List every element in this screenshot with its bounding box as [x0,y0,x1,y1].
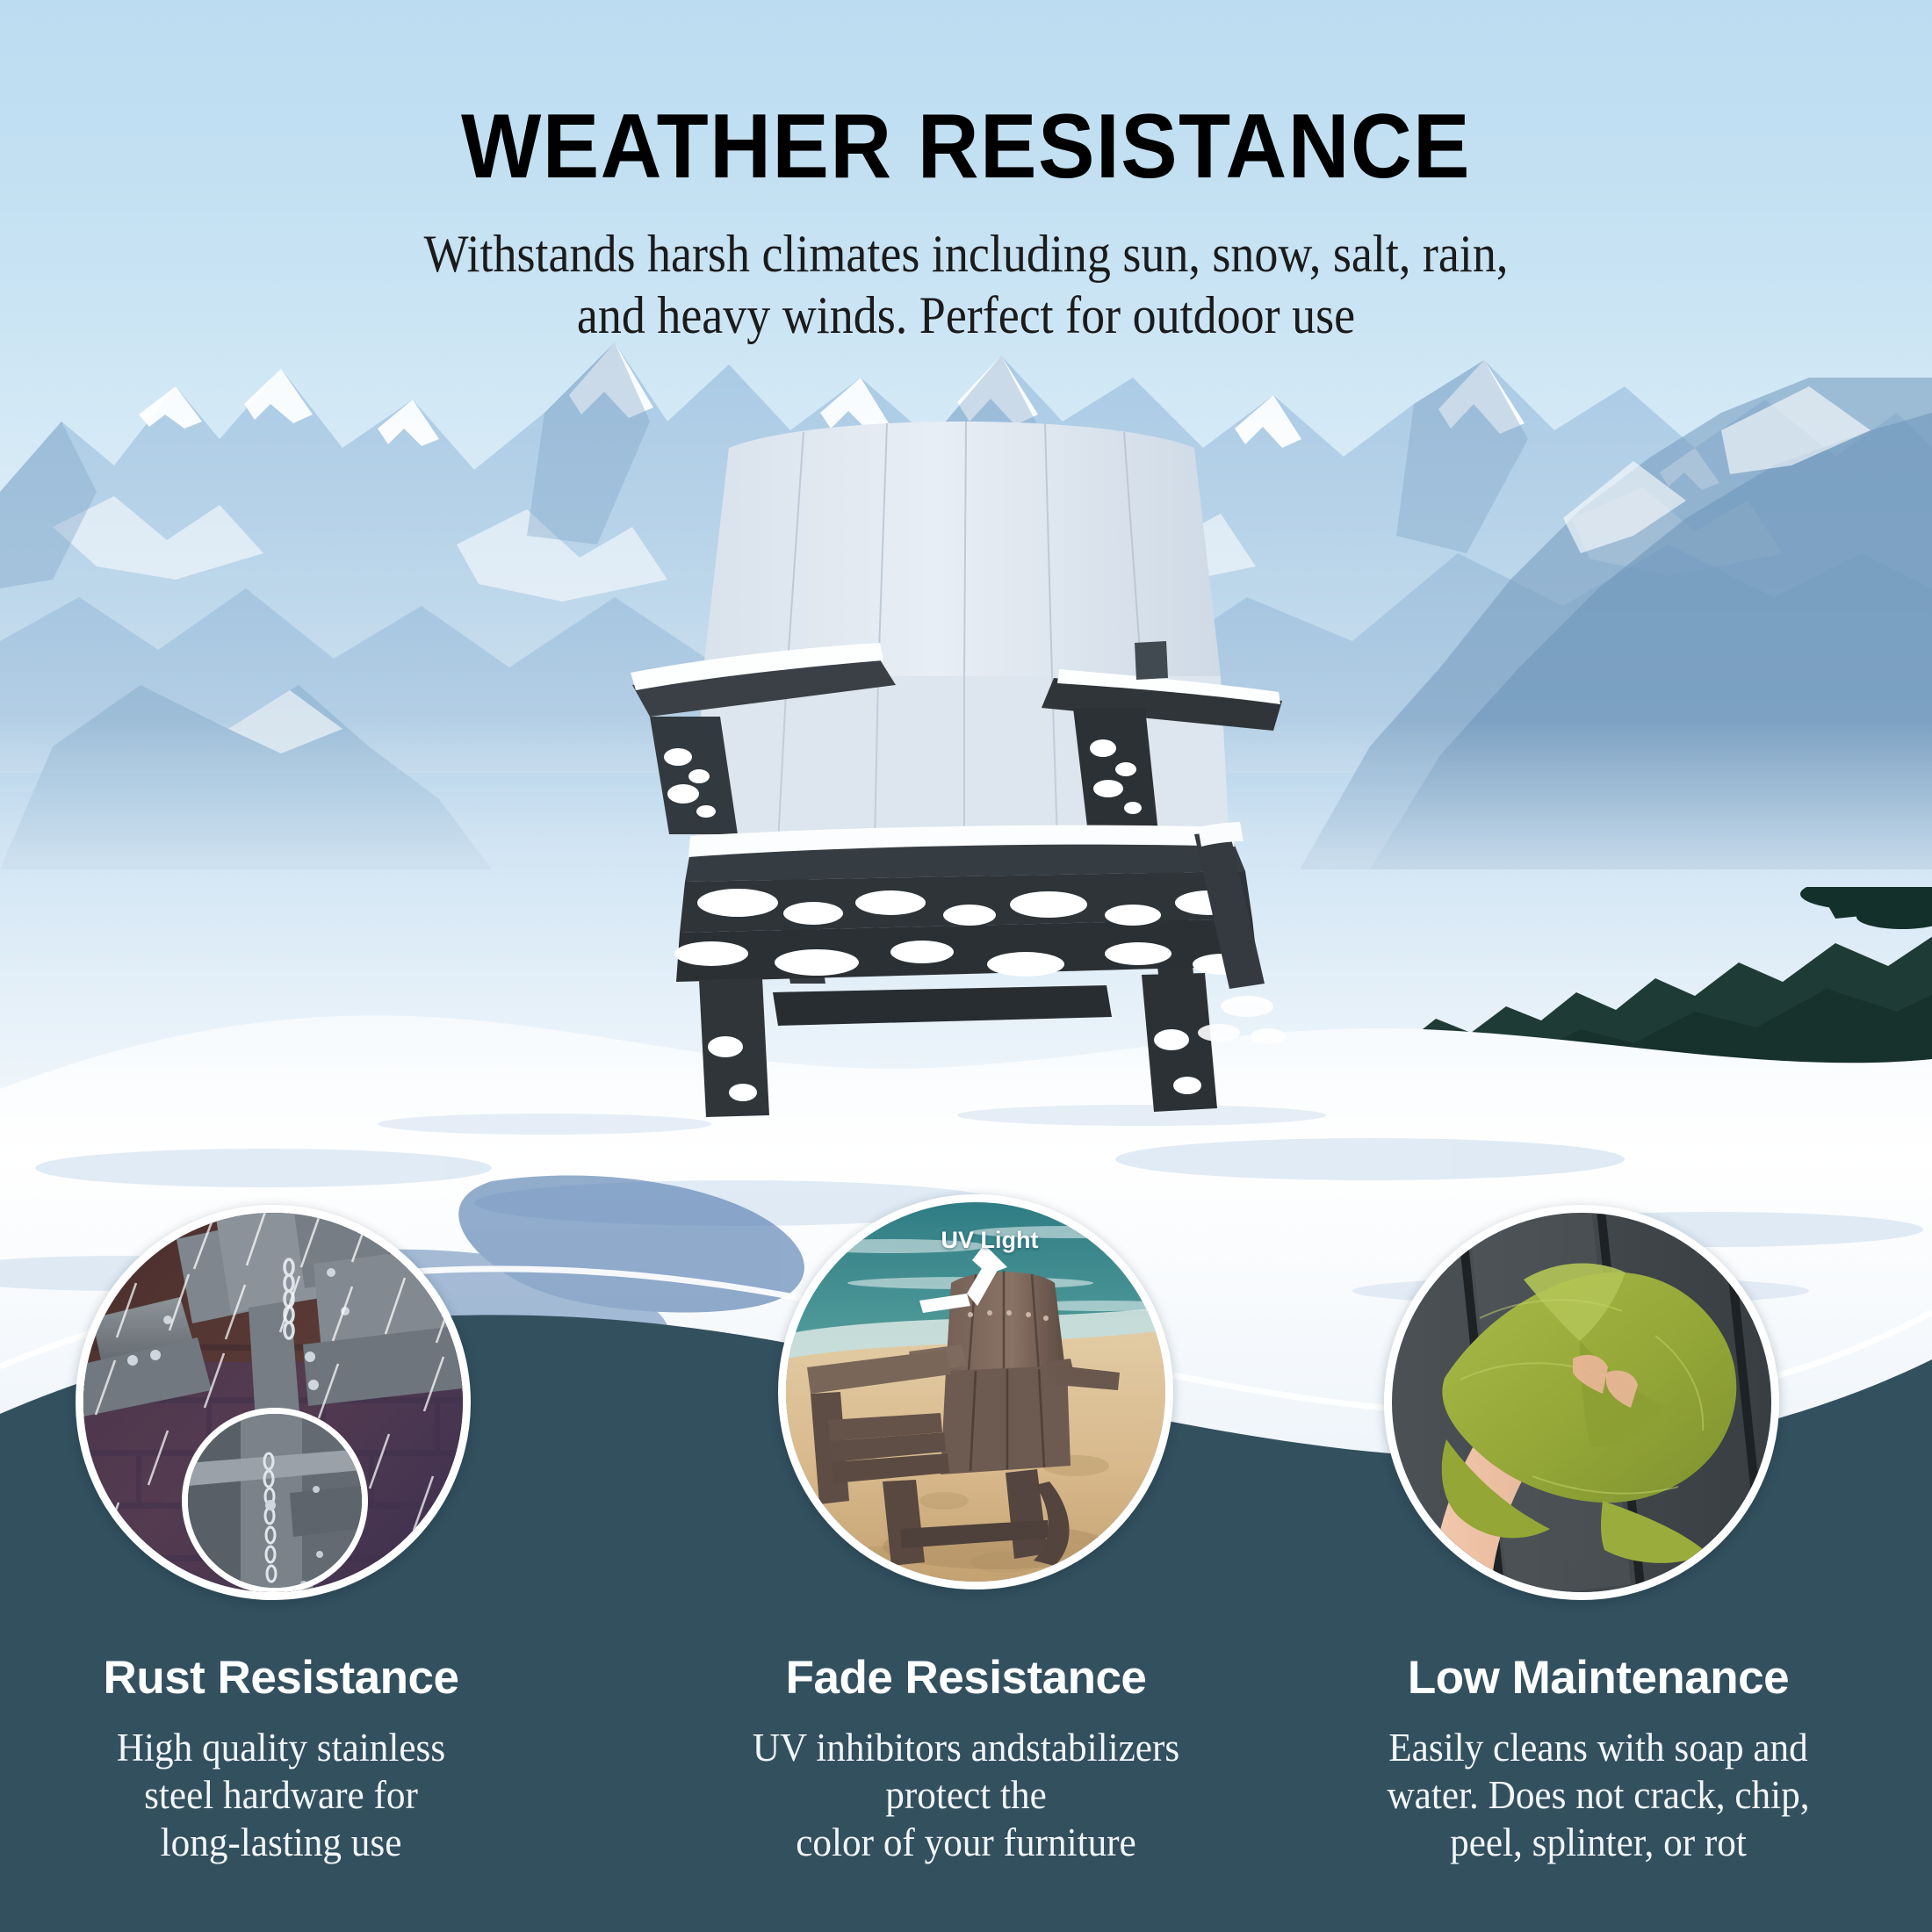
feature-body-line: water. Does not crack, chip, [1387,1773,1809,1817]
feature-body-line: steel hardware for [144,1773,418,1817]
feature-image-low-maintenance [1384,1205,1779,1600]
feature-image-fade-resistance: UV Light [778,1194,1173,1590]
feature-body-line: Easily cleans with soap and [1388,1726,1807,1770]
page-subtitle: Withstands harsh climates including sun,… [97,224,1835,346]
feature-title-rust-resistance: Rust Resistance [0,1651,562,1705]
feature-body-line: High quality stainless [117,1726,445,1770]
feature-image-rust-resistance [76,1205,471,1600]
feature-body-low-maintenance: Easily cleans with soap and water. Does … [1329,1724,1868,1866]
feature-block-rust-resistance: Rust Resistance High quality stainless s… [0,1651,562,1866]
feature-body-line: protect the [885,1773,1047,1817]
feature-body-fade-resistance: UV inhibitors andstabilizers protect the… [696,1724,1236,1866]
subtitle-line-2: and heavy winds. Perfect for outdoor use [97,285,1835,347]
rust-hardware-inset-image [182,1408,368,1594]
hero-chair-image [615,422,1300,1124]
feature-body-line: peel, splinter, or rot [1450,1820,1747,1864]
feature-body-line: color of your furniture [796,1820,1135,1864]
feature-body-line: UV inhibitors andstabilizers [753,1726,1179,1770]
uv-light-annotation: UV Light [893,1227,1086,1254]
feature-title-fade-resistance: Fade Resistance [685,1651,1247,1705]
feature-body-rust-resistance: High quality stainless steel hardware fo… [11,1724,551,1866]
feature-title-low-maintenance: Low Maintenance [1317,1651,1879,1705]
page-title: WEATHER RESISTANCE [68,95,1864,199]
feature-block-fade-resistance: Fade Resistance UV inhibitors andstabili… [685,1651,1247,1866]
subtitle-line-1: Withstands harsh climates including sun,… [97,224,1835,285]
marketing-infographic: WEATHER RESISTANCE Withstands harsh clim… [0,0,1932,1932]
feature-block-low-maintenance: Low Maintenance Easily cleans with soap … [1317,1651,1879,1866]
feature-body-line: long-lasting use [161,1820,402,1864]
